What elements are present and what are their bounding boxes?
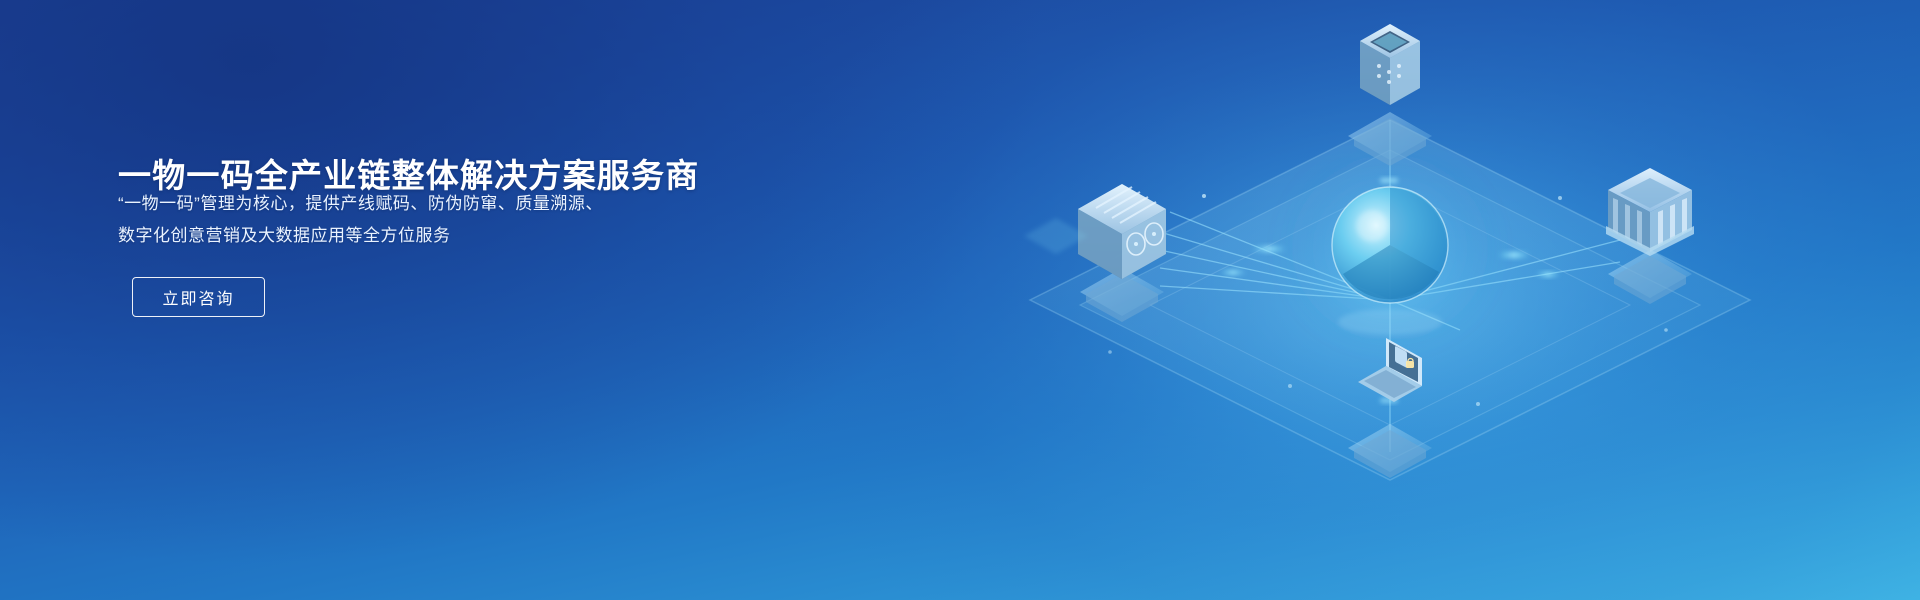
consult-now-button[interactable]: 立即咨询 — [132, 277, 265, 317]
hero-subtitle-line-1: “一物一码”管理为核心，提供产线赋码、防伪防窜、质量溯源、 — [118, 188, 718, 220]
isometric-network-illustration — [860, 0, 1920, 600]
hero-banner: 一物一码全产业链整体解决方案服务商 “一物一码”管理为核心，提供产线赋码、防伪防… — [0, 0, 1920, 600]
hero-subtitle-line-2: 数字化创意营销及大数据应用等全方位服务 — [118, 220, 718, 252]
hero-content: 一物一码全产业链整体解决方案服务商 “一物一码”管理为核心，提供产线赋码、防伪防… — [0, 0, 760, 600]
hero-subtitle: “一物一码”管理为核心，提供产线赋码、防伪防窜、质量溯源、 数字化创意营销及大数… — [118, 188, 718, 252]
bank-building-icon — [1606, 168, 1694, 304]
glowing-sphere-icon — [1272, 138, 1508, 358]
